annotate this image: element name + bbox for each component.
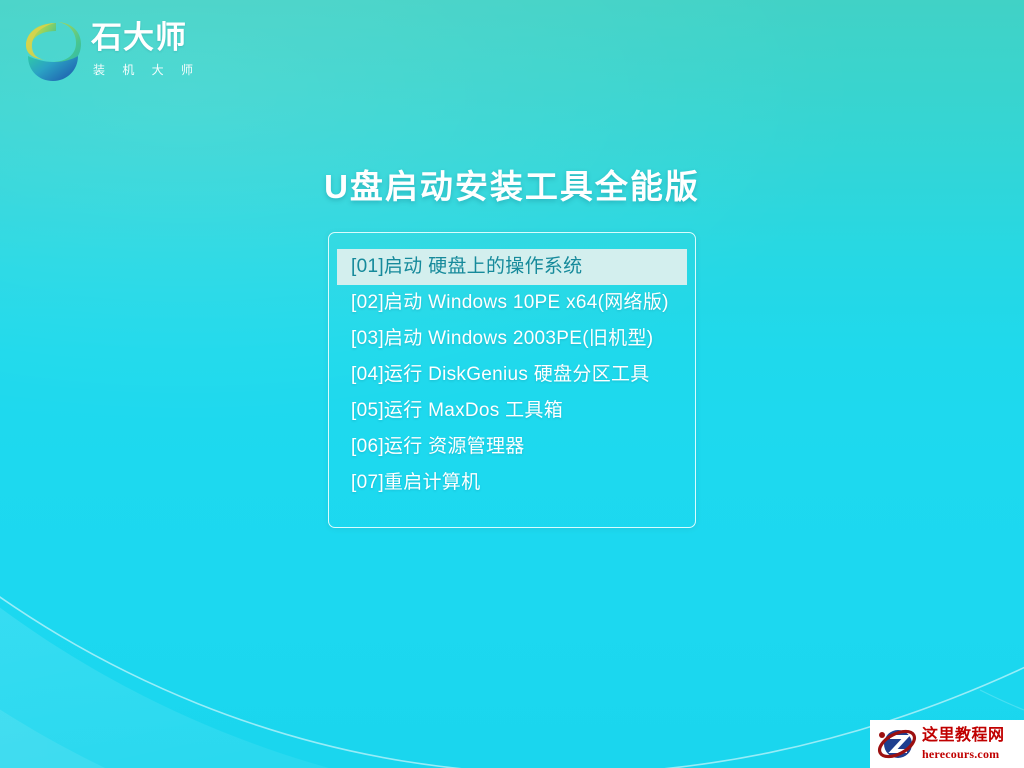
menu-item-04[interactable]: [04]运行 DiskGenius 硬盘分区工具	[337, 357, 687, 393]
menu-item-03[interactable]: [03]启动 Windows 2003PE(旧机型)	[337, 321, 687, 357]
watermark-site-name: 这里教程网	[922, 728, 1005, 745]
menu-item-01[interactable]: [01]启动 硬盘上的操作系统	[337, 249, 687, 285]
watermark: 这里教程网 herecours.com	[870, 720, 1024, 768]
boot-menu-box: [01]启动 硬盘上的操作系统 [02]启动 Windows 10PE x64(…	[328, 232, 696, 528]
watermark-text: 这里教程网 herecours.com	[922, 728, 1005, 760]
brand-name: 石大师	[91, 22, 200, 54]
menu-item-02[interactable]: [02]启动 Windows 10PE x64(网络版)	[337, 285, 687, 321]
menu-item-07[interactable]: [07]重启计算机	[337, 465, 687, 501]
brand-logo: 石大师 装 机 大 师	[22, 18, 200, 88]
page-title: U盘启动安装工具全能版	[0, 160, 1024, 208]
menu-item-05[interactable]: [05]运行 MaxDos 工具箱	[337, 393, 687, 429]
watermark-domain: herecours.com	[922, 748, 1005, 761]
herecours-z-orbit-icon	[874, 723, 920, 765]
brand-text: 石大师 装 机 大 师	[91, 18, 200, 78]
boot-menu-screen: 石大师 装 机 大 师 U盘启动安装工具全能版 [01]启动 硬盘上的操作系统 …	[0, 0, 1024, 768]
brand-tagline: 装 机 大 师	[93, 61, 200, 78]
menu-item-06[interactable]: [06]运行 资源管理器	[337, 429, 687, 465]
boot-menu-list: [01]启动 硬盘上的操作系统 [02]启动 Windows 10PE x64(…	[329, 249, 695, 501]
shidashi-leaf-logo-icon	[22, 18, 82, 88]
